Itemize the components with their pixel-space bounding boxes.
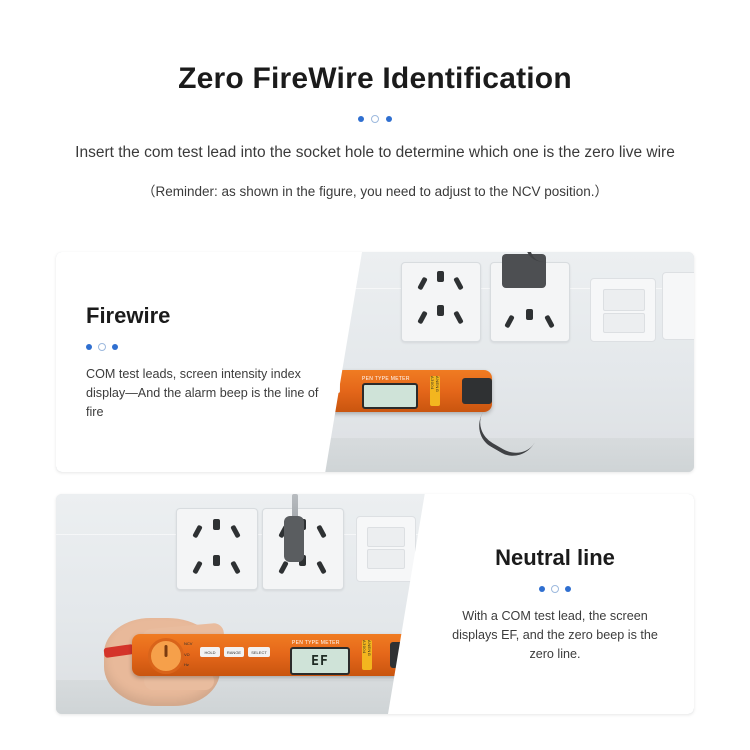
socket-hole — [213, 555, 220, 566]
rotary-dial[interactable] — [148, 638, 184, 674]
socket-hole — [437, 305, 444, 316]
panel-firewire: NCV VΩ Hz HOLD RANGE SELECT PEN TYPE MET… — [56, 252, 694, 472]
pen-label-hz: Hz — [184, 662, 189, 667]
dot-filled — [358, 116, 364, 122]
page-subtitle: Insert the com test lead into the socket… — [65, 140, 685, 166]
card-content: Neutral line With a COM test lead, the s… — [388, 494, 694, 714]
power-socket-a — [176, 508, 258, 590]
wall-switch-plate — [590, 278, 656, 342]
power-socket-a — [401, 262, 481, 342]
dot-filled — [86, 344, 92, 350]
button-range[interactable]: RANGE — [224, 647, 244, 657]
socket-hole — [192, 561, 203, 575]
model-badge: ANENG A3004 — [430, 376, 440, 406]
switch-rocker — [603, 313, 645, 333]
socket-hole — [417, 311, 428, 325]
wall-switch-plate-side — [662, 272, 694, 340]
page-title: Zero FireWire Identification — [0, 62, 750, 96]
dot-filled — [112, 344, 118, 350]
card-content: Firewire COM test leads, screen intensit… — [56, 252, 362, 472]
card-dot-separator — [442, 585, 668, 593]
switch-rocker — [367, 549, 405, 569]
socket-hole — [316, 525, 327, 539]
card-firewire: Firewire COM test leads, screen intensit… — [56, 252, 362, 472]
card-title: Neutral line — [442, 545, 668, 571]
card-title: Firewire — [86, 303, 332, 329]
socket-hole — [213, 519, 220, 530]
socket-hole — [230, 525, 241, 539]
dot-hollow — [551, 585, 559, 593]
dot-filled — [539, 586, 545, 592]
pen-label-ncv: NCV — [184, 641, 192, 646]
probe-jack — [462, 378, 492, 404]
switch-rocker — [603, 289, 645, 311]
socket-hole — [526, 309, 533, 320]
socket-hole — [230, 561, 241, 575]
dot-hollow — [371, 115, 379, 123]
dot-filled — [386, 116, 392, 122]
page-header: Zero FireWire Identification Insert the … — [0, 0, 750, 200]
card-text: With a COM test lead, the screen display… — [442, 607, 668, 664]
socket-hole — [544, 315, 555, 329]
page-reminder: （Reminder: as shown in the figure, you n… — [45, 180, 705, 200]
lcd-value: EF — [311, 654, 329, 669]
lcd-screen: EF — [290, 647, 350, 675]
socket-hole — [278, 561, 289, 575]
socket-hole — [453, 311, 464, 325]
socket-hole — [417, 277, 428, 291]
card-text: COM test leads, screen intensity index d… — [86, 365, 332, 422]
switch-rocker — [367, 527, 405, 547]
dot-filled — [565, 586, 571, 592]
socket-hole — [316, 561, 327, 575]
pen-brand-text: PEN TYPE METER — [362, 376, 410, 382]
page-root: Zero FireWire Identification Insert the … — [0, 0, 750, 750]
socket-hole — [453, 277, 464, 291]
socket-hole — [192, 525, 203, 539]
model-badge: ANENG A3004 — [362, 640, 372, 670]
socket-hole — [504, 315, 515, 329]
pen-type-meter: NCV VΩ Hz HOLD RANGE SELECT PEN TYPE MET… — [132, 634, 422, 676]
lcd-screen — [362, 383, 418, 409]
wall-switch-plate — [356, 516, 416, 582]
card-dot-separator — [86, 343, 332, 351]
button-select[interactable]: SELECT — [248, 647, 270, 657]
pen-brand-text: PEN TYPE METER — [292, 640, 340, 646]
button-hold[interactable]: HOLD — [200, 647, 220, 657]
panel-neutral-line: NCV VΩ Hz HOLD RANGE SELECT PEN TYPE MET… — [56, 494, 694, 714]
probe-handle — [284, 516, 304, 562]
socket-hole — [437, 271, 444, 282]
card-neutral-line: Neutral line With a COM test lead, the s… — [388, 494, 694, 714]
pen-label-v-ohm: VΩ — [184, 652, 190, 657]
dot-hollow — [98, 343, 106, 351]
title-dot-separator — [0, 114, 750, 124]
